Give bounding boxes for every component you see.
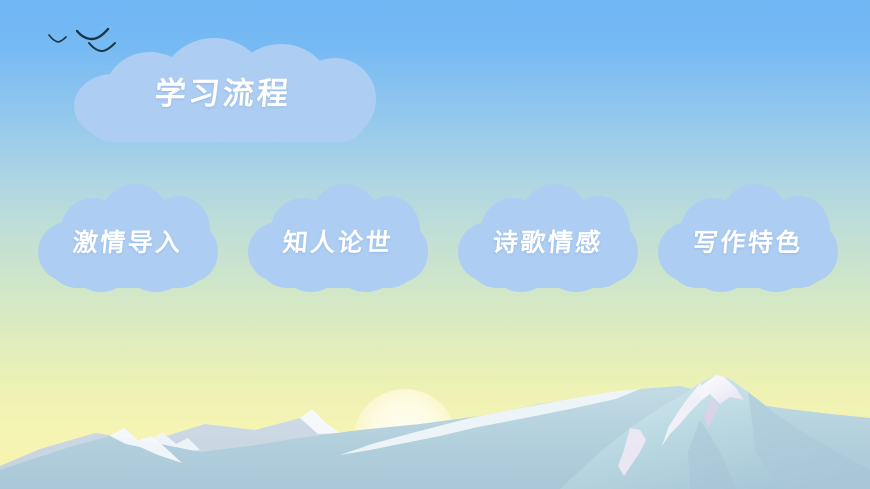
slide-canvas: 学习流程 激情导入 知人论世: [0, 0, 870, 489]
flow-step-label: 激情导入: [71, 223, 184, 259]
flow-step-label: 写作特色: [691, 223, 804, 259]
flow-step-author-context[interactable]: 知人论世: [248, 182, 428, 300]
flow-step-label: 诗歌情感: [491, 223, 604, 259]
title-cloud[interactable]: 学习流程: [74, 38, 372, 142]
flow-step-poem-emotion[interactable]: 诗歌情感: [458, 182, 638, 300]
flow-step-label: 知人论世: [281, 223, 394, 259]
flow-step-writing-style[interactable]: 写作特色: [658, 182, 838, 300]
flow-step-introduction[interactable]: 激情导入: [38, 182, 218, 300]
title-cloud-label: 学习流程: [153, 68, 293, 113]
sun: [353, 389, 457, 489]
right-snow-peak: [560, 375, 870, 489]
bird-small-left: [48, 32, 70, 46]
